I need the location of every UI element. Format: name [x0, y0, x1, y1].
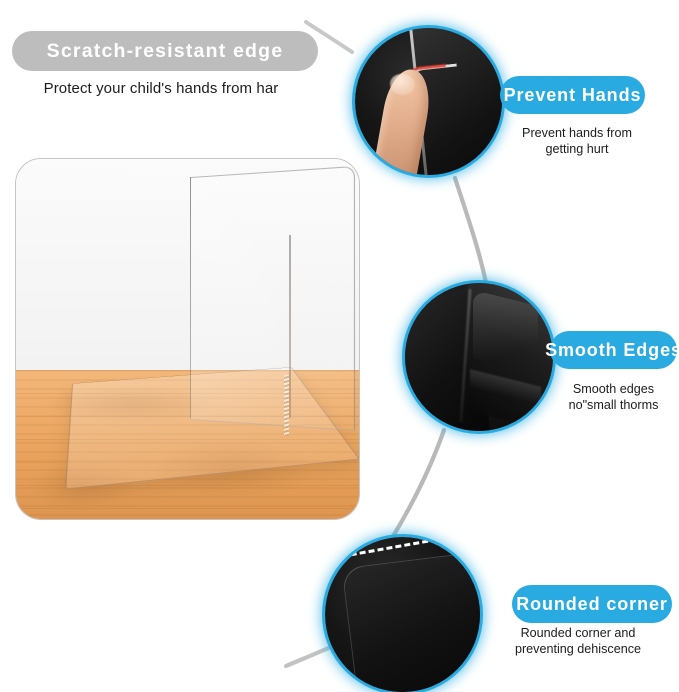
callout-prevent-hands-photo: [355, 28, 502, 175]
callout-rounded-corner-pill: Rounded corner: [512, 585, 672, 623]
header-title-pill: Scratch-resistant edge: [12, 31, 318, 71]
header-title-text: Scratch-resistant edge: [47, 40, 284, 63]
callout-prevent-hands-pill: Prevent Hands: [500, 76, 645, 114]
caption-line-2: getting hurt: [497, 142, 657, 158]
callout-smooth-edges-label: Smooth Edges: [545, 340, 679, 361]
caption-line-1: Rounded corner and: [488, 626, 668, 642]
caption-line-1: Smooth edges: [548, 382, 679, 398]
acrylic-bookend: [16, 159, 359, 519]
callout-prevent-hands-label: Prevent Hands: [504, 85, 642, 106]
bookend-front-edge: [190, 177, 192, 418]
callout-smooth-edges-photo: [405, 283, 553, 431]
caption-line-1: Prevent hands from: [497, 126, 657, 142]
bookend-edge-ribbing: [284, 375, 289, 436]
callout-smooth-edges-pill: Smooth Edges: [550, 331, 677, 369]
callout-smooth-edges-caption: Smooth edges no"small thorms: [548, 382, 679, 413]
header-subtitle: Protect your child's hands from har: [0, 80, 322, 97]
callout-rounded-corner-caption: Rounded corner and preventing dehiscence: [488, 626, 668, 657]
caption-line-2: no"small thorms: [548, 398, 679, 414]
bookend-vertical-pane: [191, 166, 355, 431]
connector-callout2-to-callout3: [392, 430, 444, 538]
callout-prevent-hands-caption: Prevent hands from getting hurt: [497, 126, 657, 157]
caption-line-2: preventing dehiscence: [488, 642, 668, 658]
infographic-canvas: Scratch-resistant edge Protect your chil…: [0, 0, 679, 691]
connector-callout1-to-callout2: [455, 178, 487, 288]
callout-rounded-corner-photo: [325, 537, 480, 692]
product-photo: [15, 158, 360, 520]
callout-rounded-corner-label: Rounded corner: [516, 594, 668, 615]
